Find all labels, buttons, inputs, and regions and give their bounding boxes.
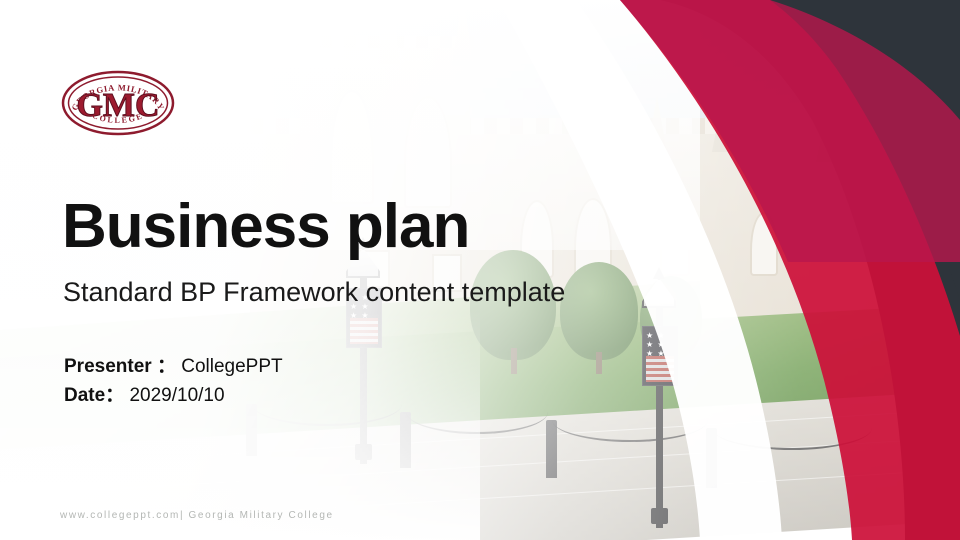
date-line: Date： 2029/10/10: [64, 381, 283, 410]
slide-footer: www.collegeppt.com| Georgia Military Col…: [60, 510, 334, 521]
date-value: 2029/10/10: [129, 385, 224, 406]
gmc-logo: GEORGIA MILITARY GMC COLLEGE: [60, 68, 176, 138]
gmc-logo-mark: GEORGIA MILITARY GMC COLLEGE: [60, 68, 176, 138]
presenter-value: CollegePPT: [181, 356, 282, 377]
presenter-label: Presenter ：: [64, 356, 176, 377]
presentation-title-slide: ★ ★★ ★★ ★ ★ ★★ ★★ ★: [0, 0, 960, 540]
date-label: Date：: [64, 385, 124, 406]
slide-subtitle: Standard BP Framework content template: [63, 279, 565, 306]
presenter-line: Presenter ： CollegePPT: [64, 352, 283, 381]
slide-title: Business plan: [62, 196, 469, 258]
slide-meta: Presenter ： CollegePPT Date： 2029/10/10: [64, 352, 283, 411]
